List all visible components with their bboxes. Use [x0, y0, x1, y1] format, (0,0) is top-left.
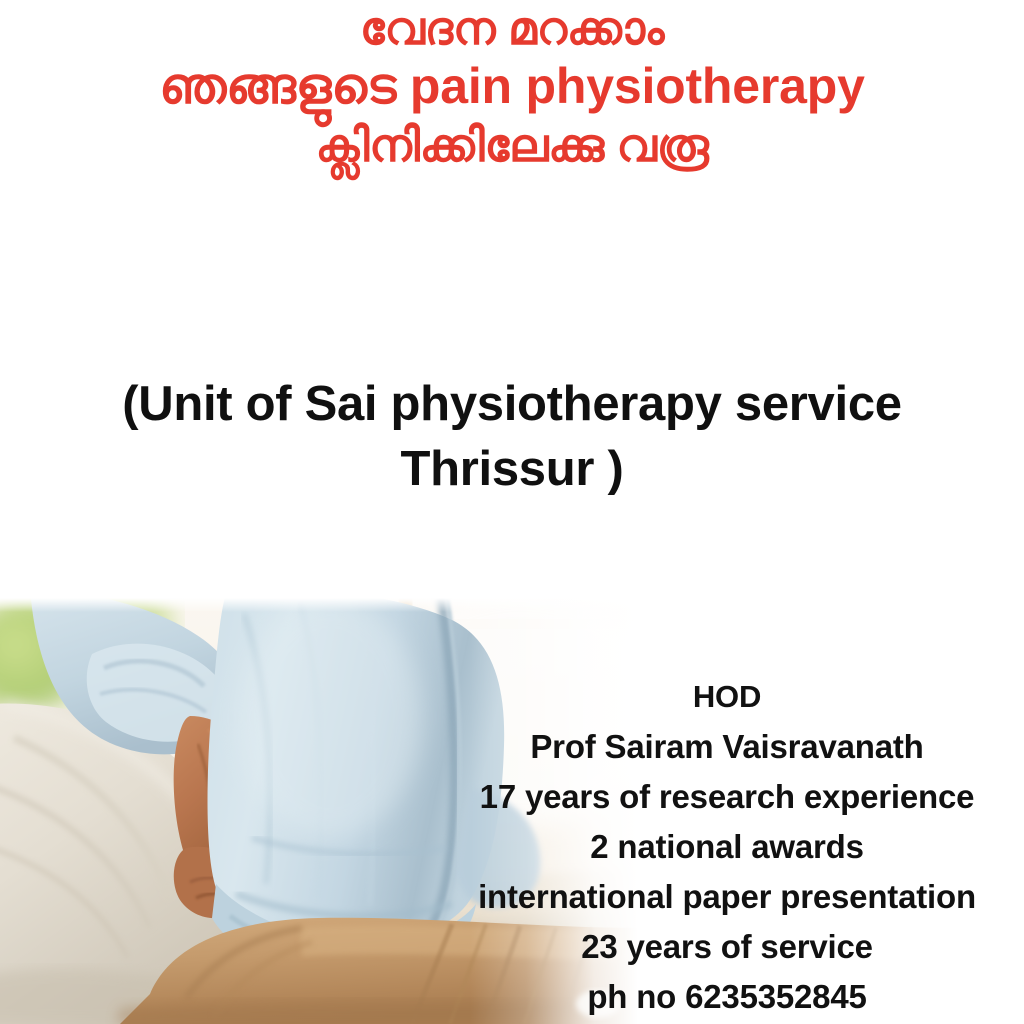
subheadline-line-2: Thrissur ): [0, 437, 1024, 502]
subheadline-block: (Unit of Sai physiotherapy service Thris…: [0, 372, 1024, 501]
headline-line-3: ക്ലിനിക്കിലേക്കു വരൂ: [0, 119, 1024, 171]
credential-name: Prof Sairam Vaisravanath: [430, 722, 1024, 772]
credential-role: HOD: [430, 672, 1024, 722]
credential-phone[interactable]: ph no 6235352845: [430, 972, 1024, 1022]
credential-awards: 2 national awards: [430, 822, 1024, 872]
poster-canvas: വേദന മറക്കാം ഞങ്ങളുടെ pain physiotherapy…: [0, 0, 1024, 1024]
credential-service: 23 years of service: [430, 922, 1024, 972]
headline-block: വേദന മറക്കാം ഞങ്ങളുടെ pain physiotherapy…: [0, 2, 1024, 172]
credential-research: 17 years of research experience: [430, 772, 1024, 822]
subheadline-line-1: (Unit of Sai physiotherapy service: [0, 372, 1024, 437]
credential-papers: international paper presentation: [430, 872, 1024, 922]
headline-line-1: വേദന മറക്കാം: [0, 2, 1024, 54]
headline-line-2: ഞങ്ങളുടെ pain physiotherapy: [0, 58, 1024, 115]
credentials-block: HOD Prof Sairam Vaisravanath 17 years of…: [430, 672, 1024, 1022]
